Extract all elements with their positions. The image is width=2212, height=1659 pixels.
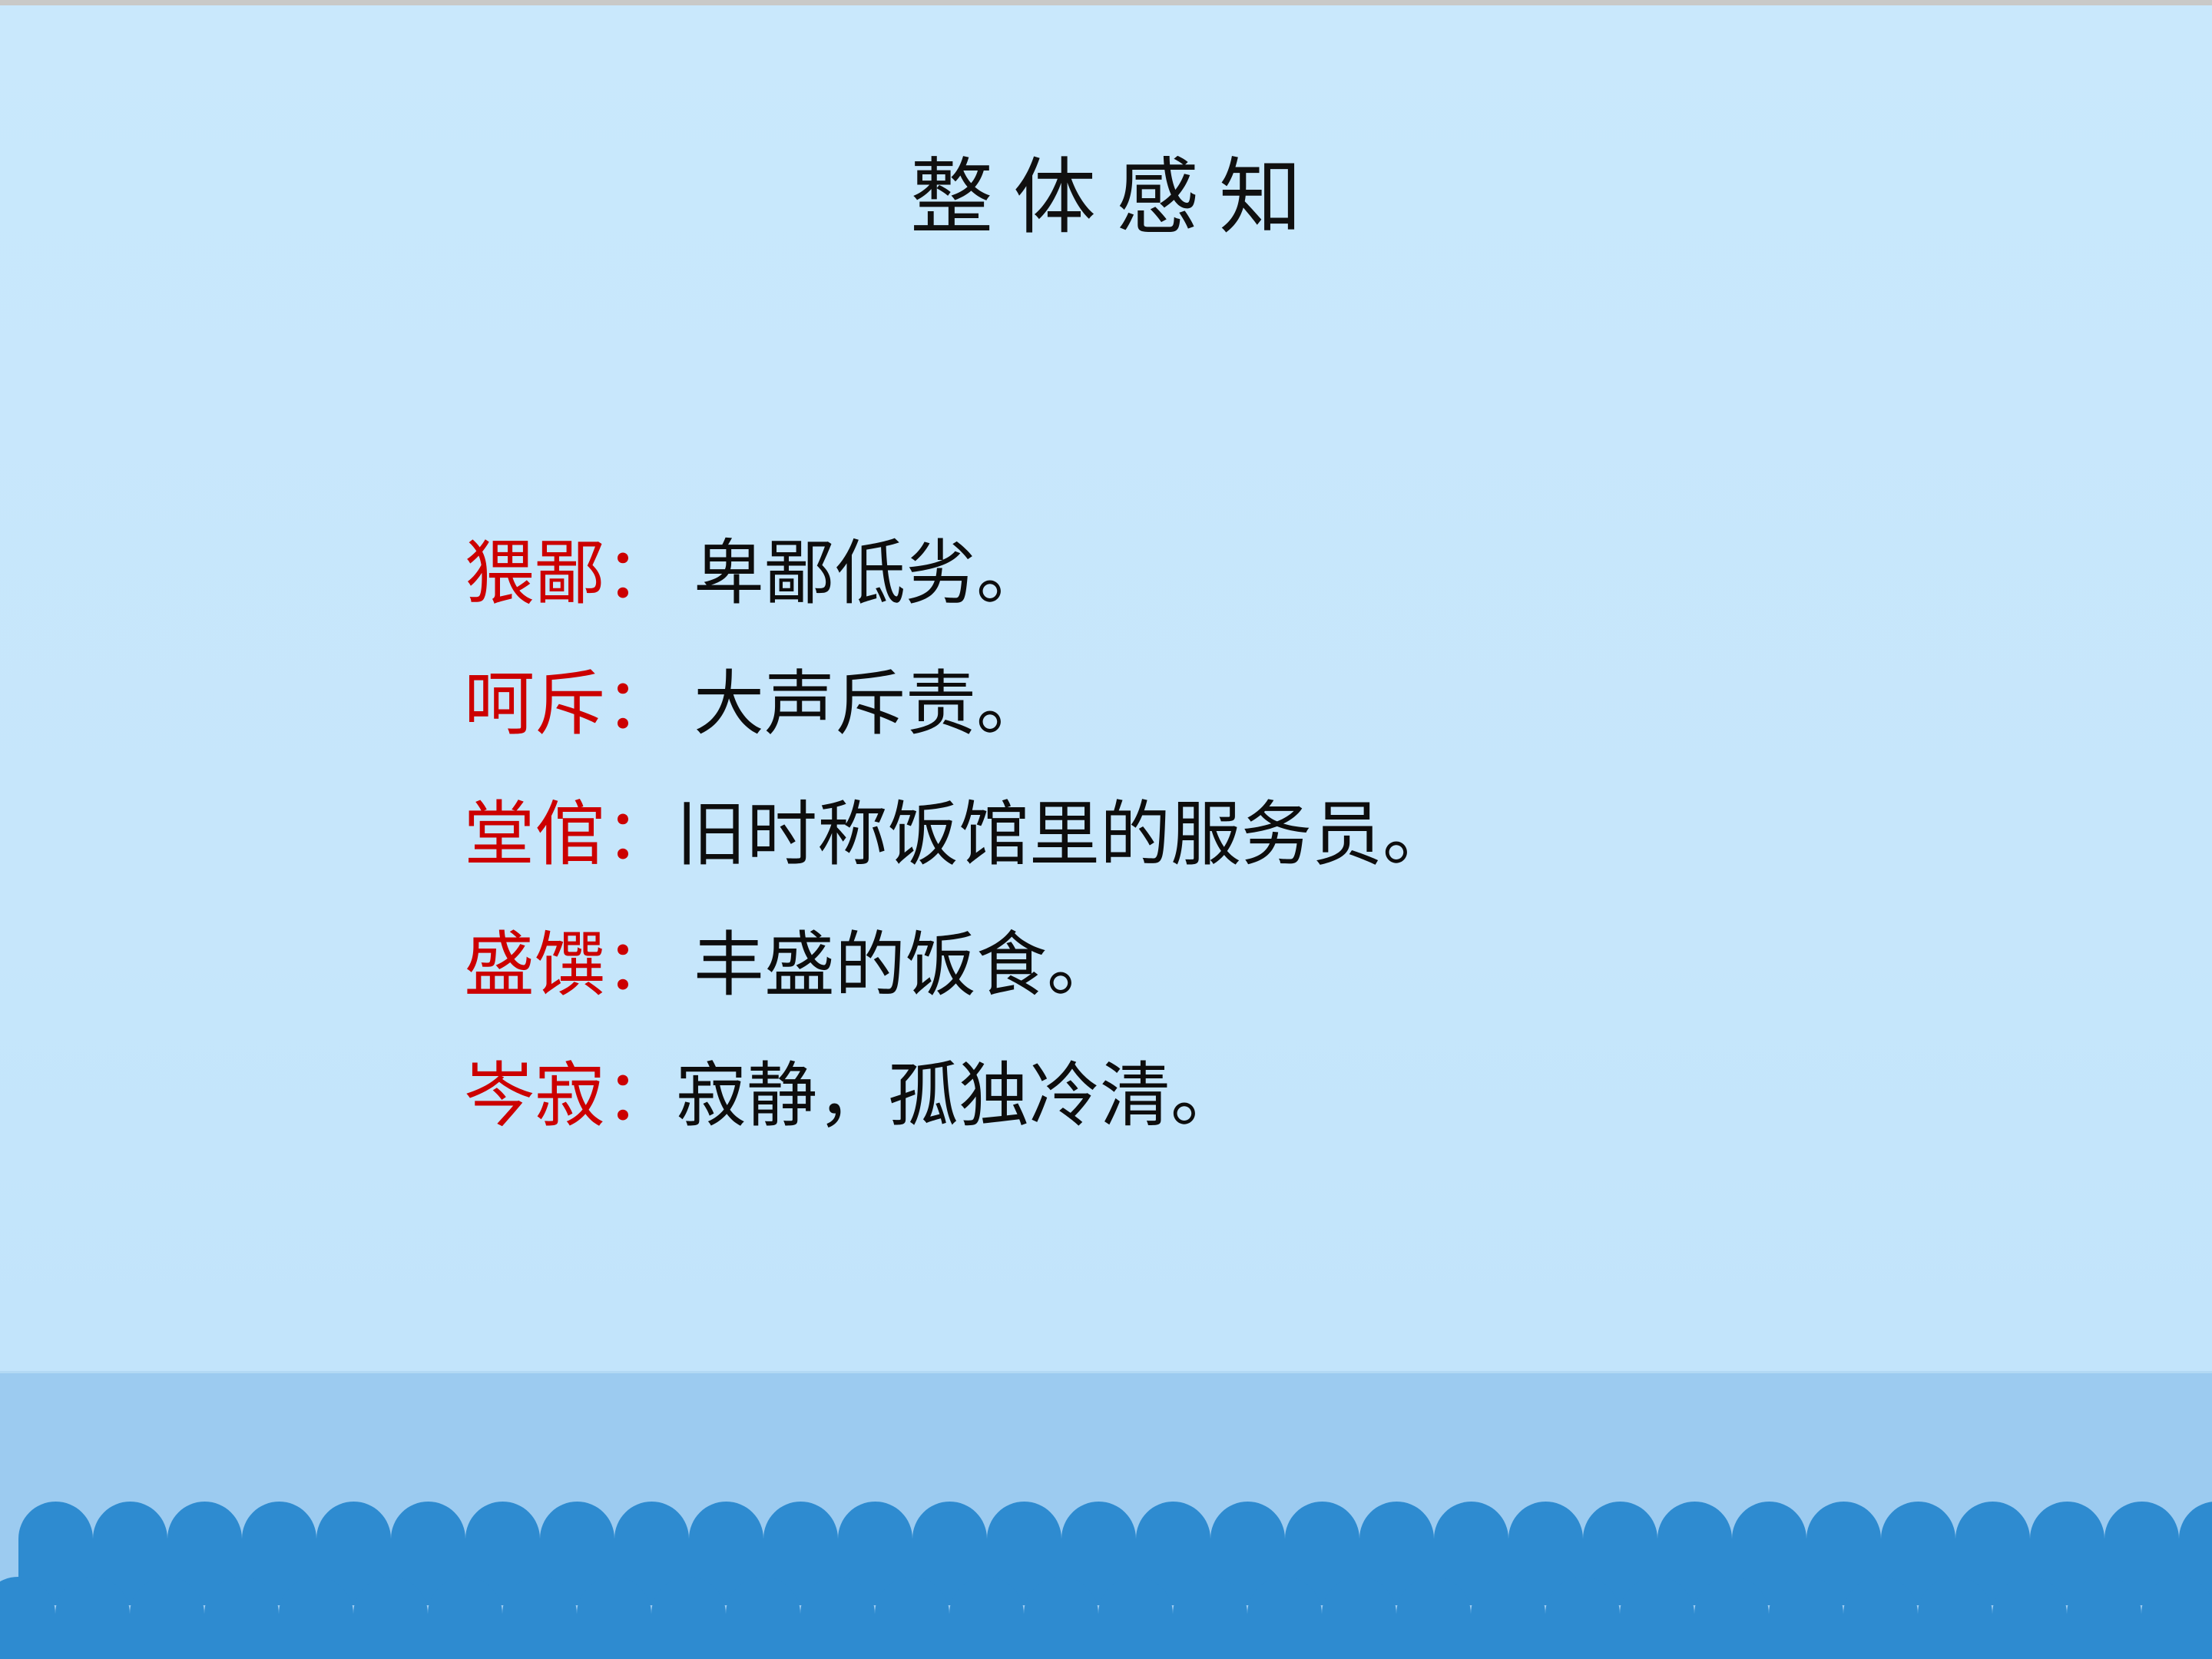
dome-shape — [1769, 1577, 1843, 1659]
dome-shape — [1545, 1577, 1620, 1659]
vocab-separator: ： — [605, 1057, 676, 1135]
dome-shape — [55, 1577, 130, 1659]
dome-shape — [949, 1577, 1024, 1659]
list-item: 呵斥： 大声斥责。 — [464, 639, 2077, 770]
dome-shape — [800, 1577, 875, 1659]
page-title: 整体感知 — [0, 154, 2212, 245]
vocab-term: 盛馔 — [464, 926, 605, 1005]
vocabulary-list: 猥鄙： 卑鄙低劣。 呵斥： 大声斥责。 堂倌：旧时称饭馆里的服务员。 盛馔： 丰… — [464, 508, 2077, 1161]
dome-shape — [2141, 1577, 2212, 1659]
dome-shape — [0, 1577, 55, 1659]
dome-shape — [1694, 1577, 1769, 1659]
vocab-term: 岑寂 — [464, 1057, 605, 1135]
list-item: 盛馔： 丰盛的饭食。 — [464, 900, 2077, 1031]
dome-shape — [428, 1577, 502, 1659]
vocab-separator: ： — [605, 665, 676, 743]
dome-shape — [577, 1577, 651, 1659]
vocab-spacer — [676, 535, 694, 613]
vocab-definition: 大声斥责。 — [694, 665, 1047, 743]
dome-shape — [1992, 1577, 2067, 1659]
list-item: 岑寂：寂静，孤独冷清。 — [464, 1031, 2077, 1161]
vocab-separator: ： — [605, 535, 676, 613]
dome-shape — [1322, 1577, 1396, 1659]
vocab-definition: 旧时称饭馆里的服务员。 — [676, 796, 1453, 874]
vocab-definition: 卑鄙低劣。 — [694, 535, 1047, 613]
vocab-spacer — [676, 926, 694, 1005]
dome-shape — [1918, 1577, 1992, 1659]
dome-shape — [204, 1577, 279, 1659]
vocab-term: 呵斥 — [464, 665, 605, 743]
dome-shape — [1396, 1577, 1471, 1659]
dome-row-lower — [0, 1577, 2212, 1659]
dome-shape — [651, 1577, 726, 1659]
vocab-definition: 丰盛的饭食。 — [694, 926, 1118, 1005]
dome-shape — [1471, 1577, 1545, 1659]
dome-shape — [1843, 1577, 1918, 1659]
dome-shape — [279, 1577, 353, 1659]
top-edge-strip — [0, 0, 2212, 5]
vocab-spacer — [676, 665, 694, 743]
band-hairline — [0, 1371, 2212, 1373]
dome-shape — [1620, 1577, 1694, 1659]
dome-shape — [1173, 1577, 1247, 1659]
dome-shape — [2067, 1577, 2141, 1659]
dome-shape — [1098, 1577, 1173, 1659]
dome-shape — [1024, 1577, 1098, 1659]
vocab-separator: ： — [605, 926, 676, 1005]
dome-shape — [502, 1577, 577, 1659]
dome-shape — [353, 1577, 428, 1659]
slide-canvas: 整体感知 猥鄙： 卑鄙低劣。 呵斥： 大声斥责。 堂倌：旧时称饭馆里的服务员。 … — [0, 0, 2212, 1659]
dome-shape — [1247, 1577, 1322, 1659]
dome-shape — [875, 1577, 949, 1659]
list-item: 堂倌：旧时称饭馆里的服务员。 — [464, 770, 2077, 900]
vocab-definition: 寂静，孤独冷清。 — [676, 1057, 1241, 1135]
vocab-term: 猥鄙 — [464, 535, 605, 613]
dome-shape — [130, 1577, 204, 1659]
vocab-separator: ： — [605, 796, 676, 874]
dome-shape — [726, 1577, 800, 1659]
vocab-term: 堂倌 — [464, 796, 605, 874]
decorative-bottom-band — [0, 1371, 2212, 1659]
list-item: 猥鄙： 卑鄙低劣。 — [464, 508, 2077, 639]
